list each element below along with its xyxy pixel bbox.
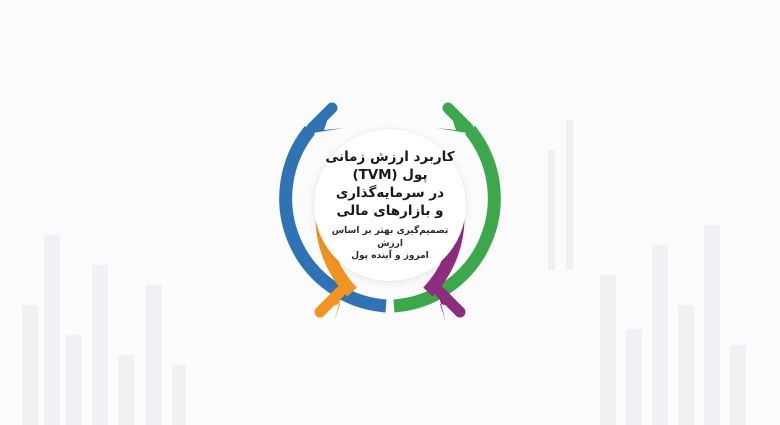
central-ring: کاربرد ارزش زمانی پول (TVM) در سرمایه‌گذ… [268,78,512,332]
hub-subtitle: تصمیم‌گیری بهتر بر اساس ارزش امروز و آین… [314,225,466,261]
hub-panel: کاربرد ارزش زمانی پول (TVM) در سرمایه‌گذ… [314,129,466,281]
hub-title-line-1: کاربرد ارزش زمانی [325,148,454,166]
hub-subtitle-line-1: تصمیم‌گیری بهتر بر اساس ارزش [324,225,456,249]
infographic-canvas: کاربرد ارزش زمانی پول (TVM) در سرمایه‌گذ… [0,0,780,425]
hub-subtitle-line-2: امروز و آینده پول [324,250,456,262]
hub-title: کاربرد ارزش زمانی پول (TVM) در سرمایه‌گذ… [319,148,460,220]
hub-title-line-4: و بازارهای مالی [325,202,454,220]
hub-title-line-3: در سرمایه‌گذاری [325,184,454,202]
hub-title-line-2: پول (TVM) [325,166,454,184]
